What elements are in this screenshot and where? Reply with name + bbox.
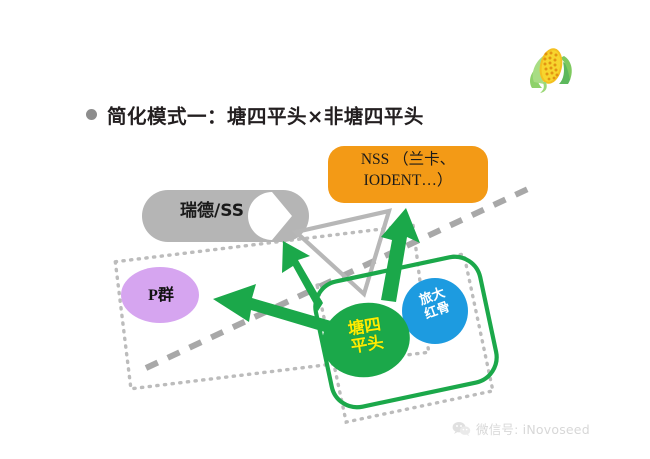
node-lvdahonggu	[402, 278, 468, 344]
node-tangsipingtou	[316, 296, 416, 384]
watermark-text: 微信号: iNovoseed	[476, 419, 590, 438]
watermark: 微信号: iNovoseed	[452, 419, 590, 438]
node-nss	[328, 146, 488, 203]
node-pqun	[121, 267, 199, 323]
wechat-icon	[452, 421, 471, 437]
node-ruide	[142, 190, 309, 242]
slide-canvas: 简化模式一：塘四平头×非塘四平头	[0, 0, 650, 459]
